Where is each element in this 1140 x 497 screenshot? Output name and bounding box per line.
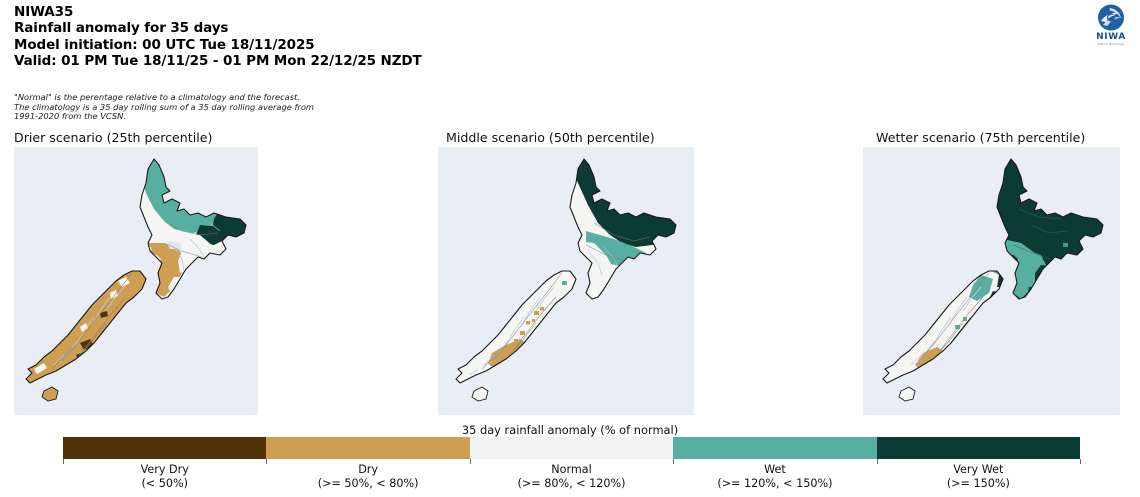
normal-definition-footnote: "Normal" is the perentage relative to a … [14, 93, 314, 122]
colorbar[interactable] [63, 437, 1080, 459]
map-panel-drier[interactable] [14, 147, 258, 415]
north-island-middle [570, 153, 682, 299]
north-island-wetter [997, 159, 1103, 299]
colorbar-label-normal: Normal (>= 80%, < 120%) [470, 462, 673, 496]
south-island-wetter [883, 271, 1007, 401]
panel-title-wetter: Wetter scenario (75th percentile) [876, 130, 1085, 145]
figure-header: NIWA35 Rainfall anomaly for 35 days Mode… [14, 4, 422, 70]
colorbar-tick [1080, 459, 1081, 464]
colorbar-label-dry-range: (>= 50%, < 80%) [266, 477, 469, 491]
colorbar-label-very-wet: Very Wet (>= 150%) [877, 462, 1080, 496]
north-island-drier [140, 155, 252, 299]
niwa-wordmark: NIWA [1096, 33, 1126, 42]
colorbar-label-very-dry: Very Dry (< 50%) [63, 462, 266, 496]
rainfall-anomaly-figure: NIWA35 Rainfall anomaly for 35 days Mode… [0, 0, 1140, 497]
colorbar-label-very-wet-range: (>= 150%) [877, 477, 1080, 491]
colorbar-label-normal-name: Normal [551, 463, 591, 476]
panel-title-drier: Drier scenario (25th percentile) [14, 130, 212, 145]
colorbar-labels: Very Dry (< 50%) Dry (>= 50%, < 80%) Nor… [63, 462, 1080, 496]
niwa-logo: NIWA Taihoro Nukurangi [1090, 3, 1132, 47]
map-panel-wetter[interactable] [863, 147, 1120, 415]
header-valid-period: Valid: 01 PM Tue 18/11/25 - 01 PM Mon 22… [14, 53, 422, 69]
header-title: Rainfall anomaly for 35 days [14, 20, 422, 36]
colorbar-label-dry-name: Dry [358, 463, 378, 476]
niwa-tagline: Taihoro Nukurangi [1098, 43, 1125, 46]
colorbar-caption: 35 day rainfall anomaly (% of normal) [0, 423, 1140, 437]
colorbar-label-dry: Dry (>= 50%, < 80%) [266, 462, 469, 496]
niwa-wave-swirl-icon [1095, 3, 1127, 33]
colorbar-band-normal [470, 437, 673, 459]
map-panel-middle[interactable] [438, 147, 694, 415]
colorbar-label-very-dry-name: Very Dry [141, 463, 189, 476]
colorbar-label-wet: Wet (>= 120%, < 150%) [673, 462, 876, 496]
colorbar-band-dry [266, 437, 469, 459]
colorbar-label-very-wet-name: Very Wet [953, 463, 1003, 476]
colorbar-label-wet-name: Wet [764, 463, 786, 476]
map-wetter-scenario[interactable] [863, 147, 1120, 415]
header-product-name: NIWA35 [14, 4, 422, 20]
south-island-middle [456, 271, 576, 401]
map-middle-scenario[interactable] [438, 147, 694, 415]
colorbar-band-very-wet [877, 437, 1080, 459]
south-island-drier [26, 271, 146, 401]
colorbar-band-very-dry [63, 437, 266, 459]
colorbar-label-normal-range: (>= 80%, < 120%) [470, 477, 673, 491]
colorbar-label-very-dry-range: (< 50%) [63, 477, 266, 491]
colorbar-label-wet-range: (>= 120%, < 150%) [673, 477, 876, 491]
header-model-initiation: Model initiation: 00 UTC Tue 18/11/2025 [14, 37, 422, 53]
panel-title-middle: Middle scenario (50th percentile) [446, 130, 655, 145]
colorbar-band-wet [673, 437, 876, 459]
map-drier-scenario[interactable] [14, 147, 258, 415]
